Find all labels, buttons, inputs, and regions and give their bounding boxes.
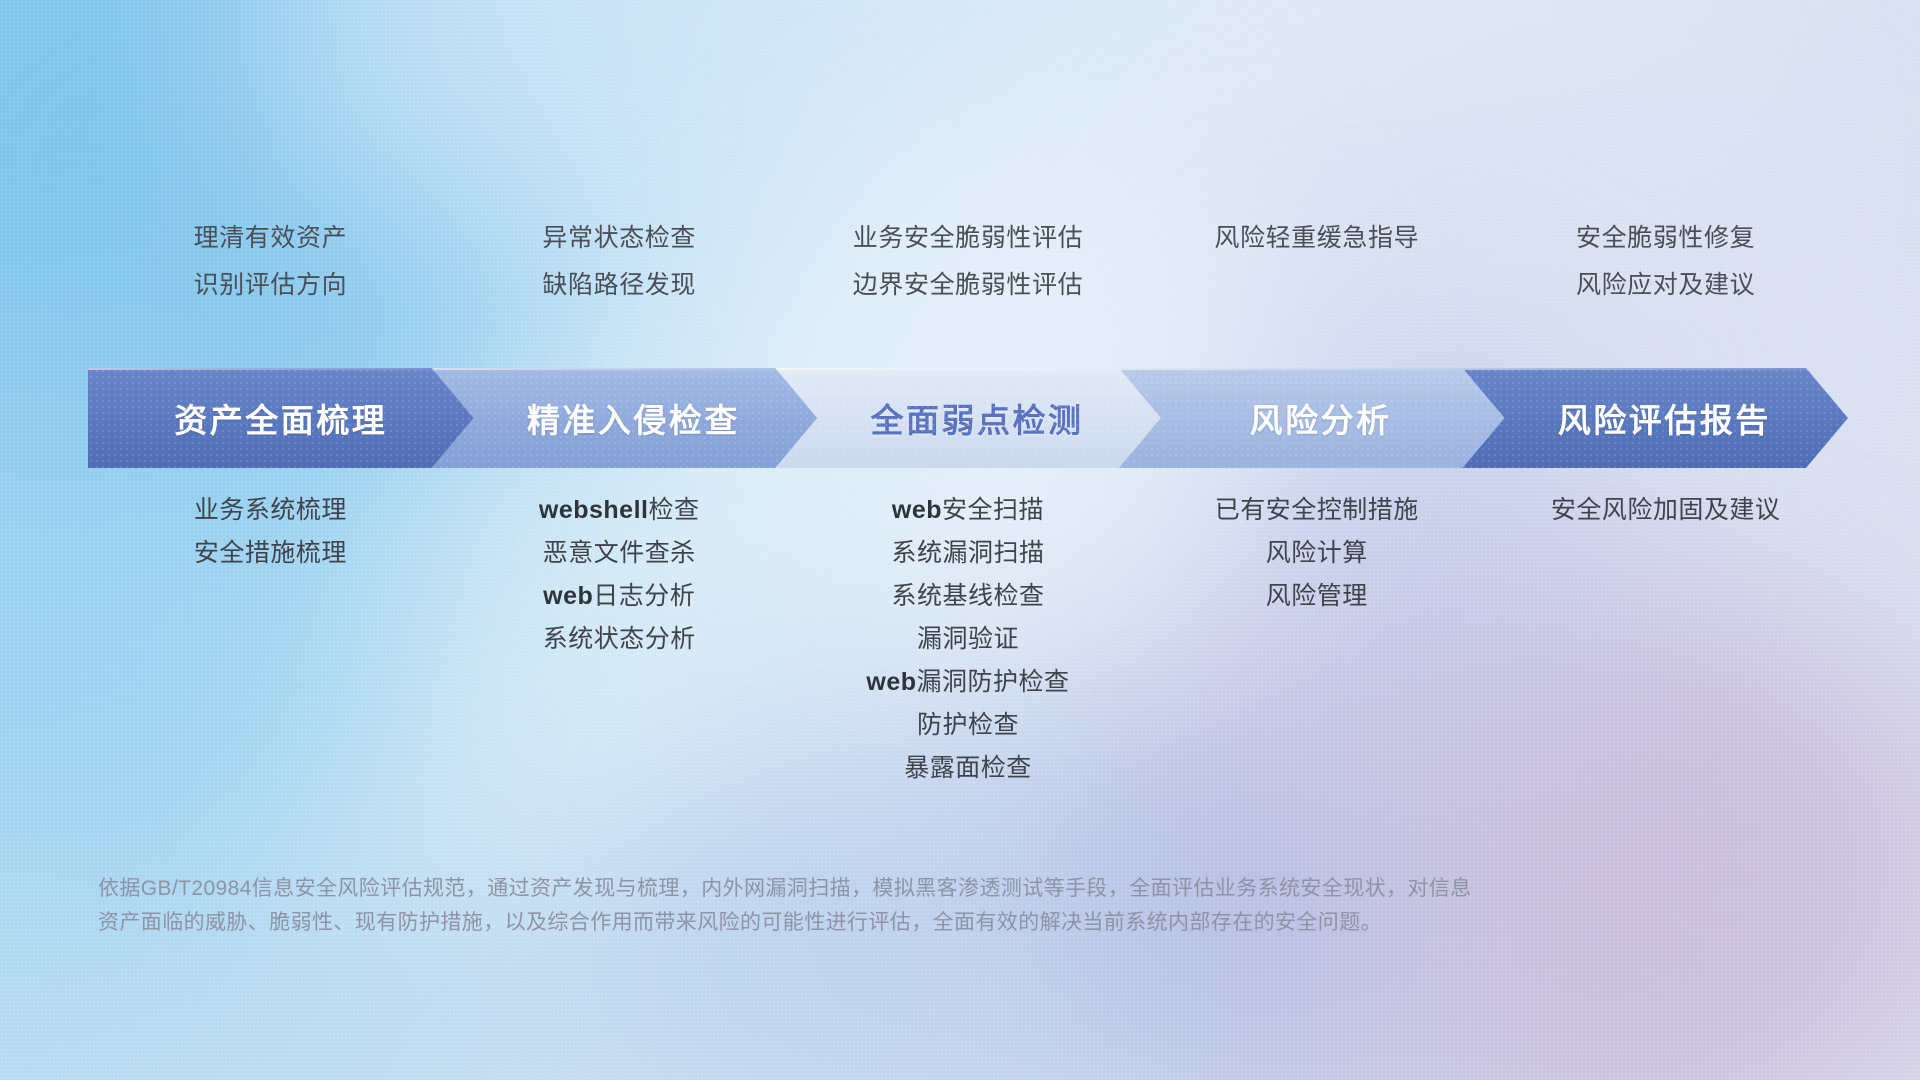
top-caption-line: 识别评估方向 [194,273,348,298]
list-item: 风险计算 [1266,541,1368,566]
top-caption-cell-assessment-report: 安全脆弱性修复风险应对及建议 [1491,226,1840,298]
chevron-edge-highlight [1119,368,1505,370]
stage-chevron-risk-analysis[interactable]: 风险分析 [1119,368,1505,468]
list-item-lead: web [866,668,916,696]
top-caption-cell-weakness-detection: 业务安全脆弱性评估边界安全脆弱性评估 [794,226,1143,298]
process-diagram: 理清有效资产识别评估方向异常状态检查缺陷路径发现业务安全脆弱性评估边界安全脆弱性… [0,0,1920,1080]
stage-title-intrusion-check: 精准入侵检查 [527,394,740,442]
top-caption-line: 异常状态检查 [542,226,696,251]
top-caption-line: 理清有效资产 [194,226,348,251]
top-caption-cell-intrusion-check: 异常状态检查缺陷路径发现 [445,226,794,298]
chevron-edge-highlight [88,368,474,370]
top-caption-line: 缺陷路径发现 [542,273,696,298]
top-caption-cell-risk-analysis: 风险轻重缓急指导 [1142,226,1491,298]
list-item: 安全措施梳理 [194,541,347,566]
stage-title-risk-analysis: 风险分析 [1250,394,1392,442]
stage-detail-row: 业务系统梳理安全措施梳理webshell检查恶意文件查杀web日志分析系统状态分… [96,452,1840,781]
list-item: web安全扫描 [892,498,1044,523]
list-item-lead: web [543,582,593,610]
stage-items-risk-analysis: 已有安全控制措施风险计算风险管理 [1142,452,1491,781]
top-caption-line: 风险轻重缓急指导 [1214,226,1419,251]
list-item: 已有安全控制措施 [1215,498,1419,523]
list-item: 安全风险加固及建议 [1551,498,1781,523]
list-item-text: 日志分析 [593,582,695,610]
stage-title-weakness-detection: 全面弱点检测 [870,394,1083,442]
list-item-text: 检查 [648,496,699,524]
chevron-edge-highlight [775,368,1161,370]
stage-items-assessment-report: 安全风险加固及建议 [1491,452,1840,781]
stage-items-asset-inventory: 业务系统梳理安全措施梳理 [96,452,445,781]
top-caption-row: 理清有效资产识别评估方向异常状态检查缺陷路径发现业务安全脆弱性评估边界安全脆弱性… [96,226,1840,298]
stage-title-asset-inventory: 资产全面梳理 [174,394,387,442]
list-item-text: 安全扫描 [942,496,1044,524]
stage-chevron-weakness-detection[interactable]: 全面弱点检测 [775,368,1161,468]
stage-chevron-assessment-report[interactable]: 风险评估报告 [1462,368,1848,468]
top-caption-cell-asset-inventory: 理清有效资产识别评估方向 [96,226,445,298]
list-item: web漏洞防护检查 [866,670,1069,695]
stage-items-intrusion-check: webshell检查恶意文件查杀web日志分析系统状态分析 [445,452,794,781]
stage-items-weakness-detection: web安全扫描系统漏洞扫描系统基线检查漏洞验证web漏洞防护检查防护检查暴露面检… [794,452,1143,781]
footer-line-1: 依据GB/T20984信息安全风险评估规范，通过资产发现与梳理，内外网漏洞扫描，… [98,872,1618,906]
list-item: 防护检查 [917,713,1019,738]
footer-line-2: 资产面临的威胁、脆弱性、现有防护措施，以及综合作用而带来风险的可能性进行评估，全… [98,906,1618,940]
list-item: 系统基线检查 [891,584,1044,609]
chevron-edge-highlight [432,368,818,370]
footer-description: 依据GB/T20984信息安全风险评估规范，通过资产发现与梳理，内外网漏洞扫描，… [98,872,1618,940]
list-item: 漏洞验证 [917,627,1019,652]
top-caption-line: 风险应对及建议 [1576,273,1755,298]
list-item-lead: web [892,496,942,524]
stage-chevron-asset-inventory[interactable]: 资产全面梳理 [88,368,474,468]
top-caption-line: 业务安全脆弱性评估 [853,226,1083,251]
list-item: 业务系统梳理 [194,498,347,523]
list-item: 风险管理 [1266,584,1368,609]
top-caption-line: 安全脆弱性修复 [1576,226,1755,251]
list-item: 系统状态分析 [543,627,696,652]
list-item: 恶意文件查杀 [543,541,696,566]
stage-title-assessment-report: 风险评估报告 [1558,394,1771,442]
chevron-edge-highlight [1462,368,1848,370]
list-item-text: 漏洞防护检查 [917,668,1070,696]
stage-chevron-intrusion-check[interactable]: 精准入侵检查 [432,368,818,468]
list-item: web日志分析 [543,584,695,609]
list-item: webshell检查 [539,498,700,523]
list-item: 暴露面检查 [904,756,1032,781]
stage-chevron-band: 资产全面梳理精准入侵检查全面弱点检测风险分析风险评估报告 [88,368,1848,468]
list-item-lead: webshell [539,496,649,524]
top-caption-line: 边界安全脆弱性评估 [853,273,1083,298]
list-item: 系统漏洞扫描 [891,541,1044,566]
